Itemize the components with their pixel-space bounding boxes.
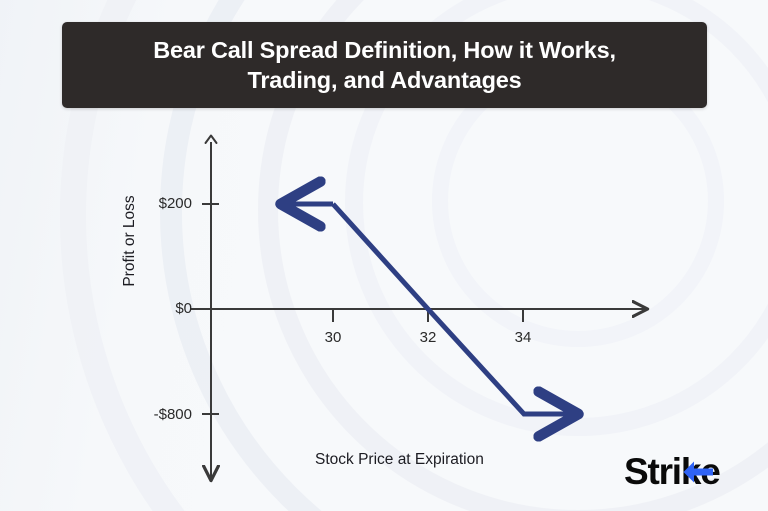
y-axis — [206, 136, 217, 480]
screenshot-canvas: Bear Call Spread Definition, How it Work… — [0, 0, 768, 511]
x-tick-label-34: 34 — [503, 329, 543, 346]
y-tick-label-neg800: -$800 — [128, 406, 192, 423]
logo-text: Strike — [624, 451, 720, 492]
chart-graphics — [0, 0, 768, 511]
x-tick-label-32: 32 — [408, 329, 448, 346]
x-tick-label-30: 30 — [313, 329, 353, 346]
y-axis-title: Profit or Loss — [121, 175, 139, 307]
y-tick-label-0: $0 — [140, 300, 192, 317]
x-axis-title: Stock Price at Expiration — [315, 451, 484, 469]
brand-logo: Strike — [624, 449, 720, 493]
y-tick-label-200: $200 — [140, 195, 192, 212]
payoff-chart: $200 $0 -$800 30 32 34 Stock Price at Ex… — [0, 0, 768, 511]
y-axis-arrow-top — [206, 136, 217, 144]
logo-wordmark: Strike — [624, 453, 720, 490]
